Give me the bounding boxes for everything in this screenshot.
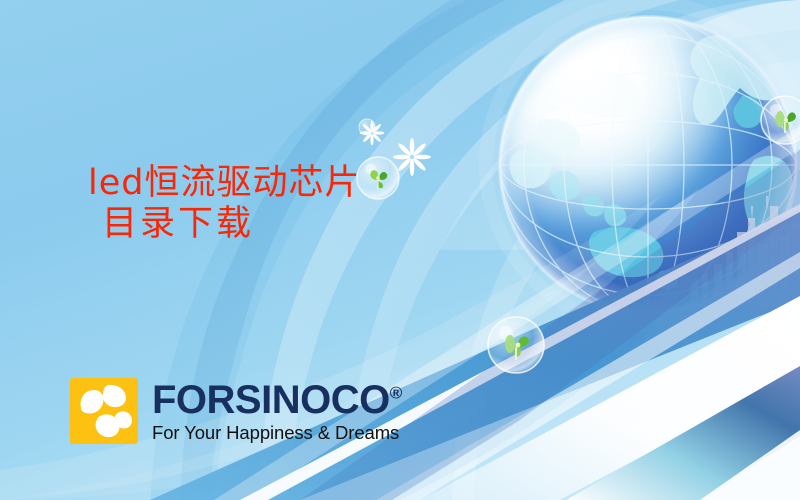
headline-text: led恒流驱动芯片 目录下载 (88, 163, 360, 246)
bubble-icon (357, 157, 399, 199)
registered-mark: ® (390, 384, 402, 403)
bubble-icon (761, 96, 800, 144)
pinwheel-flower-icon (70, 378, 138, 444)
bubble-icon (359, 119, 375, 135)
banner-image: led恒流驱动芯片 目录下载 FORSINOCO® For Your Happi… (0, 0, 800, 500)
headline-line-1: led恒流驱动芯片 (88, 163, 360, 204)
logo-tagline: For Your Happiness & Dreams (152, 422, 402, 444)
logo-wordmark-text: FORSINOCO (152, 378, 390, 422)
bubble-icon (488, 317, 544, 373)
company-logo: FORSINOCO® For Your Happiness & Dreams (70, 378, 402, 444)
headline-line-2: 目录下载 (102, 204, 360, 245)
logo-wordmark: FORSINOCO® (152, 379, 402, 421)
